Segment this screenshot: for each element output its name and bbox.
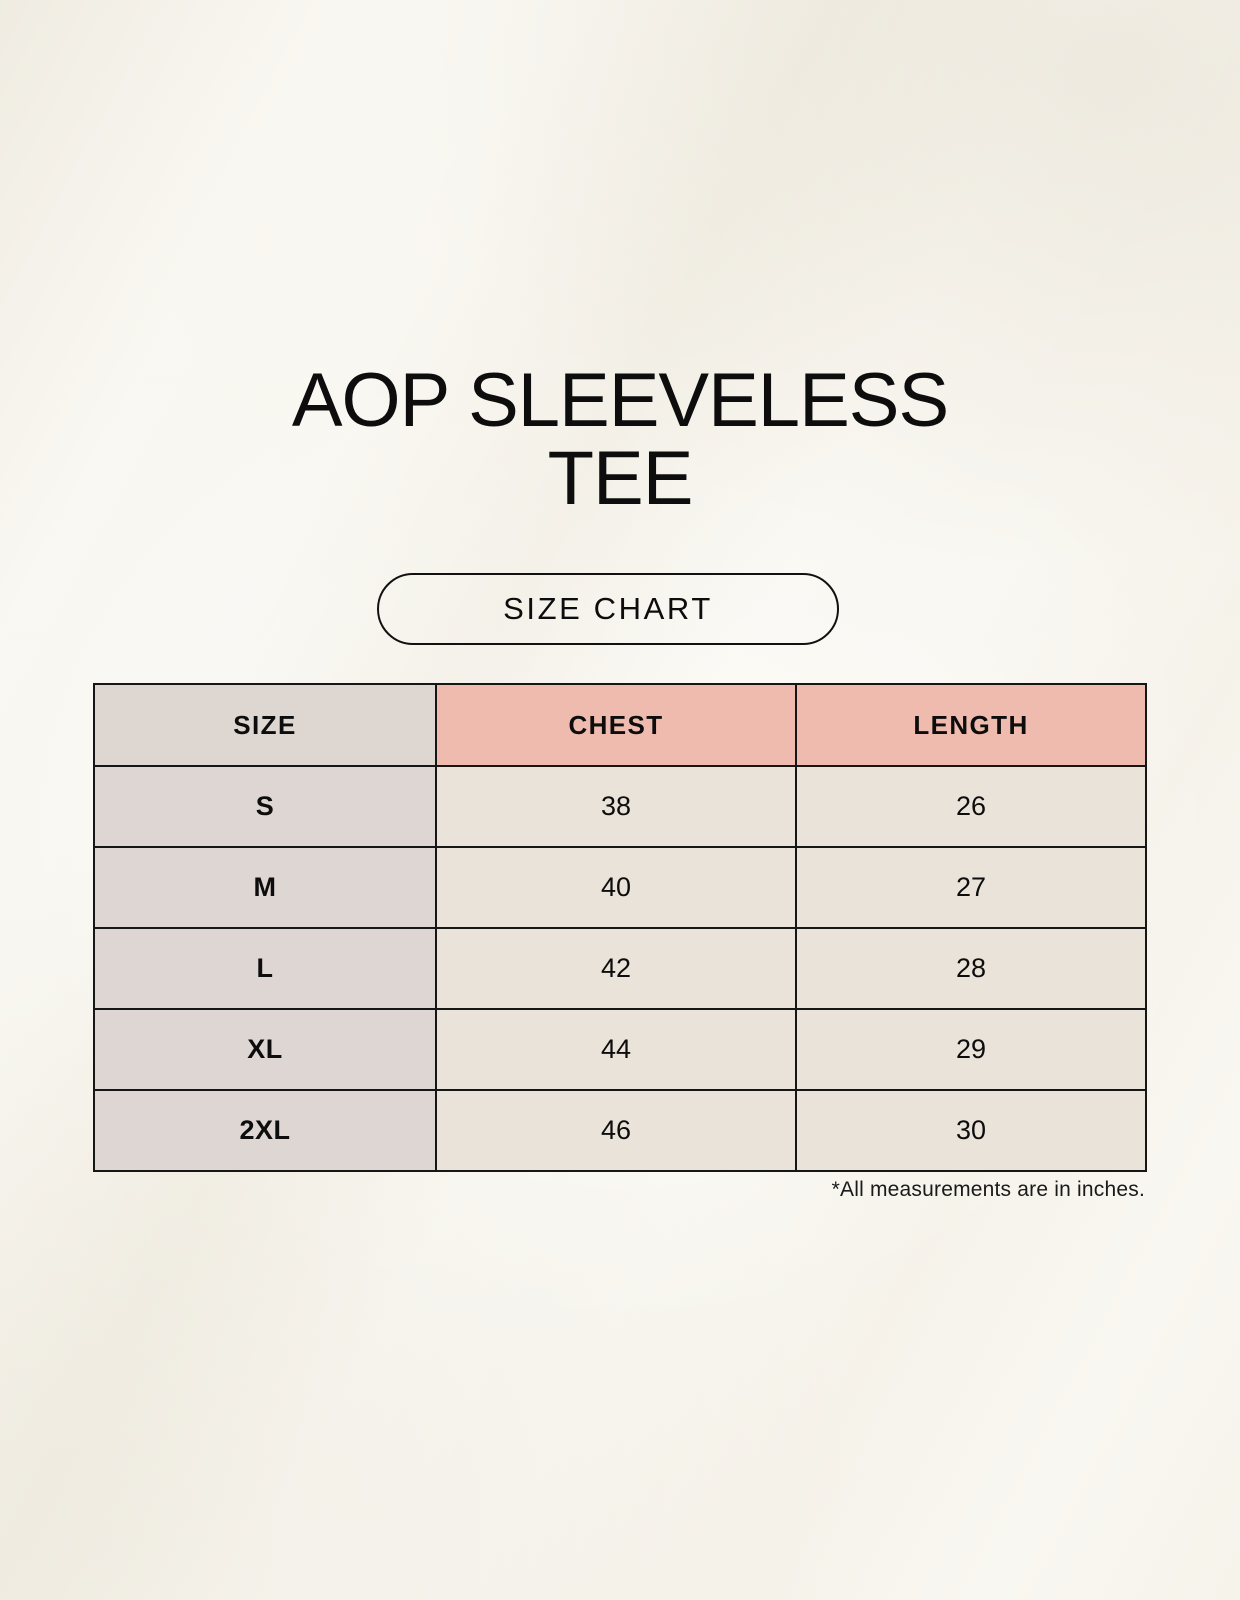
- cell-length: 28: [796, 928, 1146, 1009]
- cell-chest: 38: [436, 766, 796, 847]
- cell-length: 27: [796, 847, 1146, 928]
- cell-size: L: [94, 928, 436, 1009]
- table-row: M 40 27: [94, 847, 1146, 928]
- column-header-size: SIZE: [94, 684, 436, 766]
- cell-size: S: [94, 766, 436, 847]
- column-header-length: LENGTH: [796, 684, 1146, 766]
- size-chart-badge-label: SIZE CHART: [503, 591, 713, 627]
- table-header-row: SIZE CHEST LENGTH: [94, 684, 1146, 766]
- cell-chest: 44: [436, 1009, 796, 1090]
- size-chart-badge: SIZE CHART: [377, 573, 839, 645]
- cell-size: M: [94, 847, 436, 928]
- cell-size: XL: [94, 1009, 436, 1090]
- cell-length: 26: [796, 766, 1146, 847]
- table-row: 2XL 46 30: [94, 1090, 1146, 1171]
- cell-length: 29: [796, 1009, 1146, 1090]
- table-row: XL 44 29: [94, 1009, 1146, 1090]
- size-chart-table: SIZE CHEST LENGTH S 38 26 M 40 27 L 42 2…: [93, 683, 1147, 1172]
- cell-chest: 40: [436, 847, 796, 928]
- cell-length: 30: [796, 1090, 1146, 1171]
- page-title: AOP SLEEVELESS TEE: [0, 362, 1240, 518]
- table-row: S 38 26: [94, 766, 1146, 847]
- cell-chest: 42: [436, 928, 796, 1009]
- cell-chest: 46: [436, 1090, 796, 1171]
- table-row: L 42 28: [94, 928, 1146, 1009]
- measurement-footnote: *All measurements are in inches.: [832, 1178, 1145, 1202]
- cell-size: 2XL: [94, 1090, 436, 1171]
- size-chart-page: AOP SLEEVELESS TEE SIZE CHART SIZE CHEST…: [0, 0, 1240, 1600]
- column-header-chest: CHEST: [436, 684, 796, 766]
